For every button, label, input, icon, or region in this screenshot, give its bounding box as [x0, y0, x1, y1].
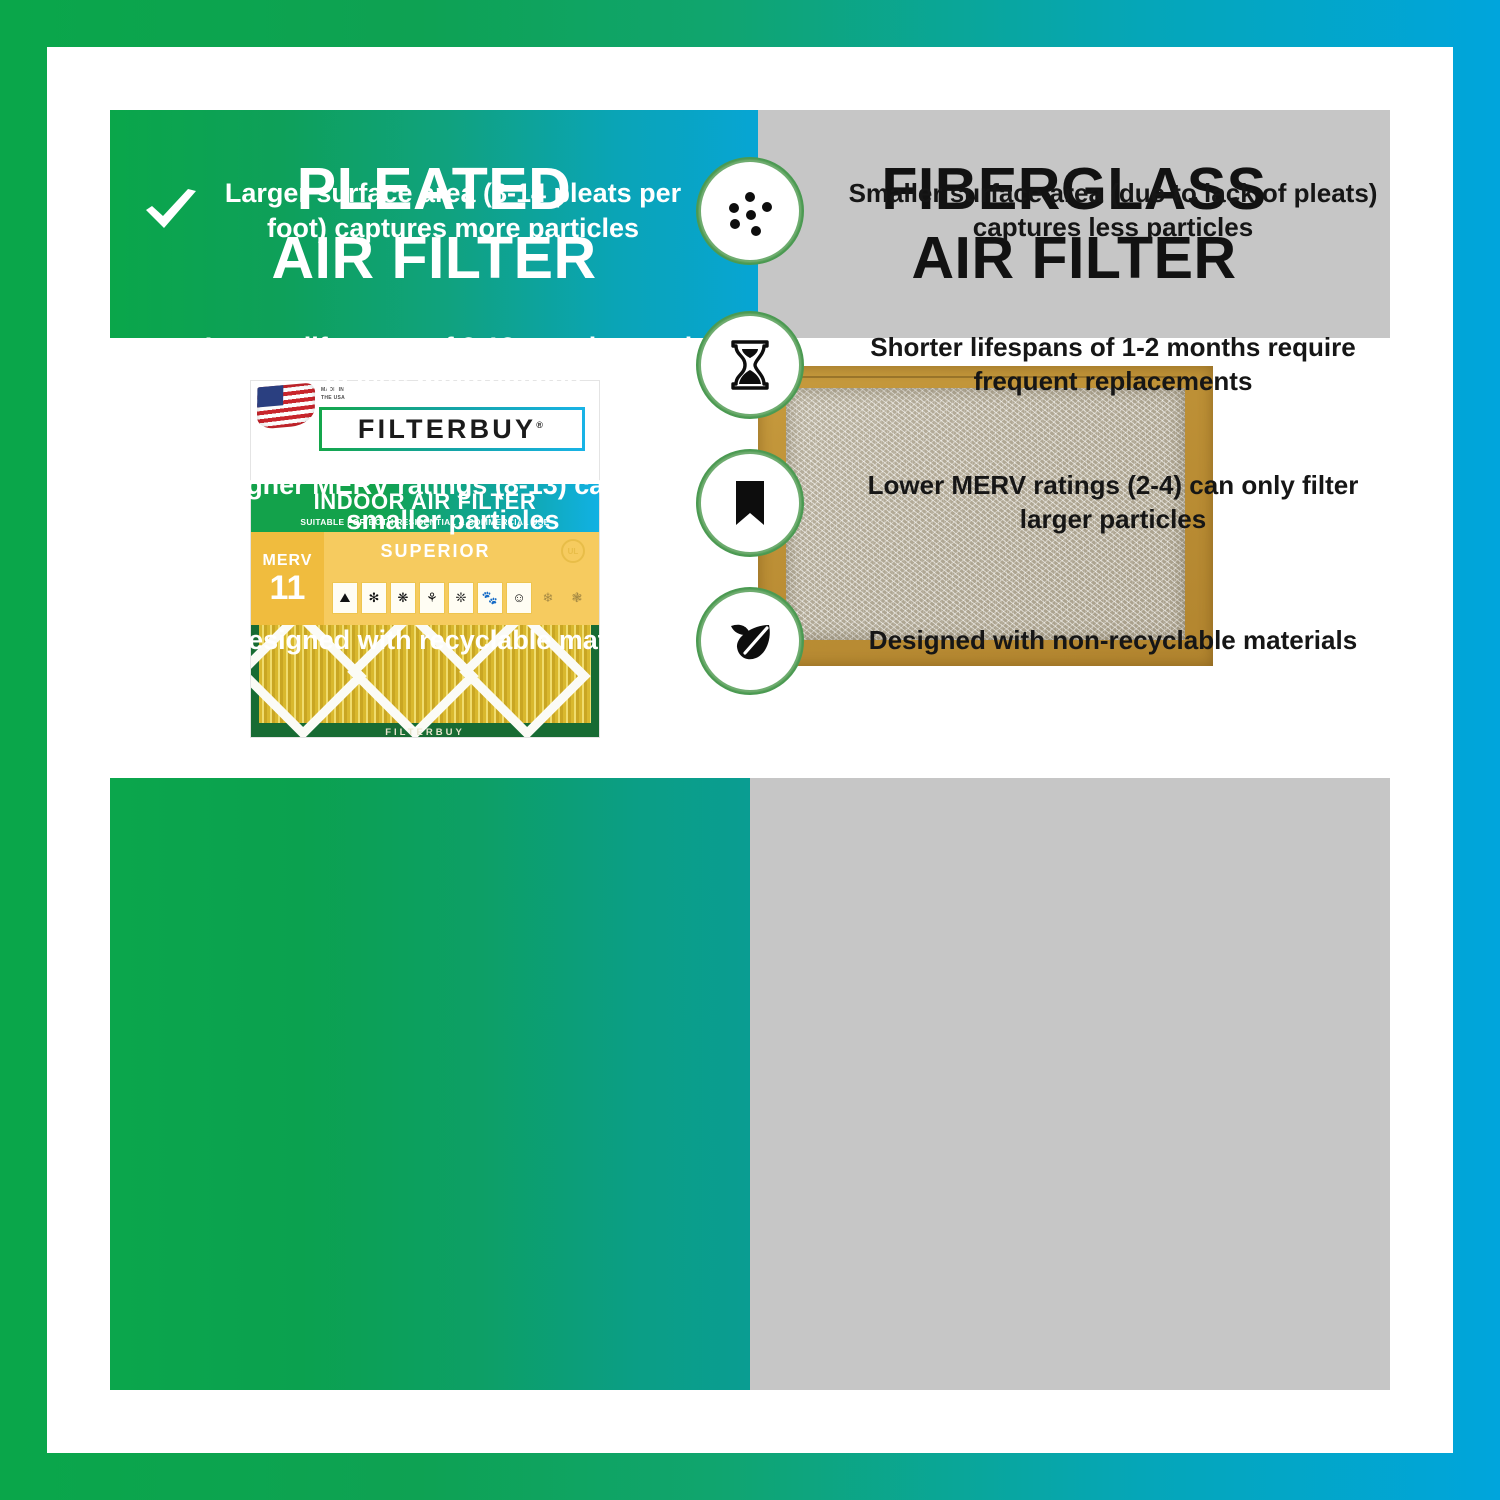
infographic-canvas: PLEATED AIR FILTER FIBERGLASS AIR FILTER [110, 110, 1390, 1390]
row-2-left: Longer lifespans of 3-12 months result i… [110, 330, 750, 400]
hourglass-glyph [722, 337, 778, 393]
dot-5 [730, 219, 740, 229]
comparison-right-panel [750, 778, 1390, 1390]
row-2-left-text: Longer lifespans of 3-12 months result i… [202, 330, 704, 400]
box-footer-brand: FILTERBUY [251, 727, 599, 738]
row-3-left: Higher MERV ratings (8-13) can filter sm… [110, 468, 750, 538]
row-4-left-text: Designed with recyclable materials [202, 623, 704, 658]
row-2-right: Shorter lifespans of 1-2 months require … [750, 331, 1390, 399]
row-4-right-text: Designed with non-recyclable materials [836, 624, 1390, 658]
row-3-left-text: Higher MERV ratings (8-13) can filter sm… [202, 468, 704, 538]
row-4-right: Designed with non-recyclable materials [750, 624, 1390, 658]
particles-dots-icon [696, 157, 804, 265]
bookmark-glyph [722, 475, 778, 531]
comparison-panels [110, 778, 1390, 1390]
dot-1 [729, 203, 739, 213]
checkmark-icon [110, 188, 202, 234]
row-3-right: Lower MERV ratings (2-4) can only filter… [750, 469, 1390, 537]
comparison-rows: Larger surface area (8-14 pleats per foo… [110, 110, 1390, 722]
checkmark-icon [110, 342, 202, 388]
row-4-left: Designed with recyclable materials [110, 618, 750, 664]
row-3-right-text: Lower MERV ratings (2-4) can only filter… [836, 469, 1390, 537]
hourglass-icon [696, 311, 804, 419]
row-1-right-text: Smaller surface area (due to lack of ple… [836, 177, 1390, 245]
row-2-right-text: Shorter lifespans of 1-2 months require … [836, 331, 1390, 399]
row-1-left-text: Larger surface area (8-14 pleats per foo… [202, 176, 704, 246]
outer-gradient-frame: PLEATED AIR FILTER FIBERGLASS AIR FILTER [0, 0, 1500, 1500]
checkmark-icon [110, 480, 202, 526]
checkmark-icon [110, 618, 202, 664]
row-1-right: Smaller surface area (due to lack of ple… [750, 177, 1390, 245]
dot-2 [745, 192, 755, 202]
leaf-sprout-icon [696, 587, 804, 695]
dot-6 [751, 226, 761, 236]
leaf-sprout-glyph [722, 613, 778, 669]
row-1-left: Larger surface area (8-14 pleats per foo… [110, 176, 750, 246]
dot-4 [762, 202, 772, 212]
comparison-left-panel [110, 778, 750, 1390]
bookmark-ribbon-icon [696, 449, 804, 557]
dots-group [721, 182, 779, 240]
dot-3 [746, 210, 756, 220]
